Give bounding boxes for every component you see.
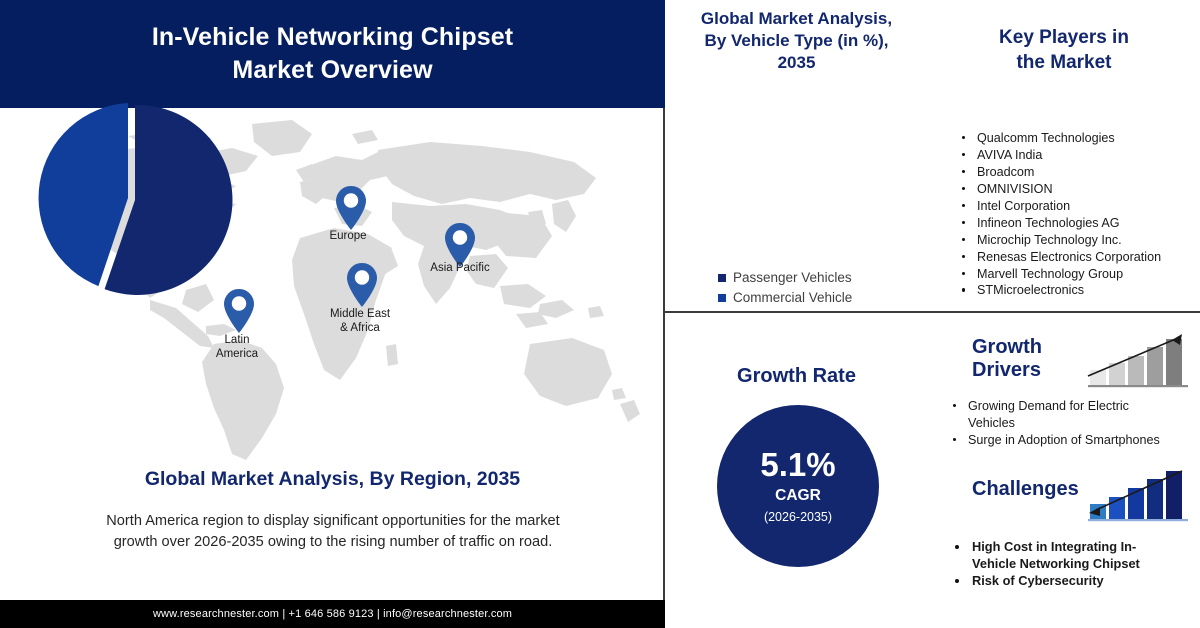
- growth-drivers-list: Growing Demand for Electric VehiclesSurg…: [949, 398, 1167, 449]
- cagr-period: (2026-2035): [764, 510, 832, 524]
- pie-chart-title: Global Market Analysis, By Vehicle Type …: [665, 0, 928, 74]
- growth-drivers-title-line1: Growth: [972, 336, 1042, 358]
- key-players-title-line2: the Market: [1016, 52, 1111, 73]
- growth-driver-item: Surge in Adoption of Smartphones: [949, 432, 1167, 449]
- challenge-item: Risk of Cybersecurity: [949, 572, 1171, 589]
- region-caption: Global Market Analysis, By Region, 2035: [0, 468, 665, 491]
- key-player-item: Broadcom: [958, 164, 1198, 181]
- growth-drivers-title-line2: Drivers: [972, 359, 1041, 381]
- legend-item-commercial-vehicle: Commercial Vehicle: [718, 290, 852, 305]
- legend-swatch-passenger-vehicles: [718, 274, 726, 282]
- map-pin-middle-east-africa[interactable]: [345, 262, 379, 308]
- page-title-line1: In-Vehicle Networking Chipset: [152, 23, 513, 51]
- key-players-title: Key Players in the Market: [928, 0, 1200, 75]
- cagr-badge: 5.1% CAGR (2026-2035): [717, 405, 879, 567]
- challenges-title: Challenges: [972, 478, 1079, 501]
- key-player-item: Marvell Technology Group: [958, 266, 1198, 283]
- upward-trend-bar-chart-icon: [1086, 332, 1194, 388]
- growth-driver-item: Growing Demand for Electric Vehicles: [949, 398, 1167, 432]
- key-players-title-line1: Key Players in: [999, 27, 1129, 48]
- pie-title-line3: 2035: [778, 53, 816, 72]
- footer-contact-text: www.researchnester.com | +1 646 586 9123…: [153, 608, 512, 620]
- footer-band: www.researchnester.com | +1 646 586 9123…: [0, 600, 665, 628]
- infographic-page: In-Vehicle Networking Chipset Market Ove…: [0, 0, 1200, 628]
- legend-item-passenger-vehicles: Passenger Vehicles: [718, 270, 852, 285]
- map-label-latin-america: Latin America: [177, 334, 297, 361]
- key-player-item: Infineon Technologies AG: [958, 215, 1198, 232]
- challenge-item: High Cost in Integrating In-Vehicle Netw…: [949, 538, 1171, 572]
- map-pin-europe[interactable]: [334, 185, 368, 231]
- key-player-item: Microchip Technology Inc.: [958, 232, 1198, 249]
- left-column: In-Vehicle Networking Chipset Market Ove…: [0, 0, 665, 628]
- cagr-metric-label: CAGR: [775, 487, 821, 505]
- cagr-value: 5.1%: [760, 448, 835, 481]
- legend-label-passenger-vehicles: Passenger Vehicles: [733, 270, 852, 285]
- key-player-item: Qualcomm Technologies: [958, 130, 1198, 147]
- key-player-item: Renesas Electronics Corporation: [958, 249, 1198, 266]
- downward-trend-bar-chart-icon: [1086, 466, 1194, 522]
- header-band: In-Vehicle Networking Chipset Market Ove…: [0, 0, 665, 108]
- vehicle-type-pie-chart: [33, 100, 233, 300]
- pie-title-line2: By Vehicle Type (in %),: [705, 31, 889, 50]
- pie-data-label-passenger: 60%: [820, 158, 850, 175]
- page-title-line2: Market Overview: [232, 56, 432, 84]
- key-player-item: STMicroelectronics: [958, 282, 1198, 299]
- map-label-asia-pacific: Asia Pacific: [400, 262, 520, 276]
- pie-slice-commercial-vehicle: [39, 103, 128, 286]
- key-players-list: Qualcomm TechnologiesAVIVA IndiaBroadcom…: [958, 130, 1198, 299]
- challenges-list: High Cost in Integrating In-Vehicle Netw…: [949, 538, 1171, 590]
- key-player-item: Intel Corporation: [958, 198, 1198, 215]
- growth-rate-title: Growth Rate: [665, 313, 928, 388]
- page-title: In-Vehicle Networking Chipset Market Ove…: [152, 21, 513, 87]
- pie-title-line1: Global Market Analysis,: [701, 9, 892, 28]
- key-player-item: OMNIVISION: [958, 181, 1198, 198]
- map-label-europe: Europe: [288, 230, 408, 244]
- region-description: North America region to display signific…: [92, 511, 574, 554]
- panel-vehicle-type: Global Market Analysis, By Vehicle Type …: [665, 0, 930, 313]
- legend-label-commercial-vehicle: Commercial Vehicle: [733, 290, 852, 305]
- legend-swatch-commercial-vehicle: [718, 294, 726, 302]
- map-label-middle-east-africa: Middle East & Africa: [300, 308, 420, 335]
- key-player-item: AVIVA India: [958, 147, 1198, 164]
- growth-drivers-title: Growth Drivers: [972, 336, 1102, 382]
